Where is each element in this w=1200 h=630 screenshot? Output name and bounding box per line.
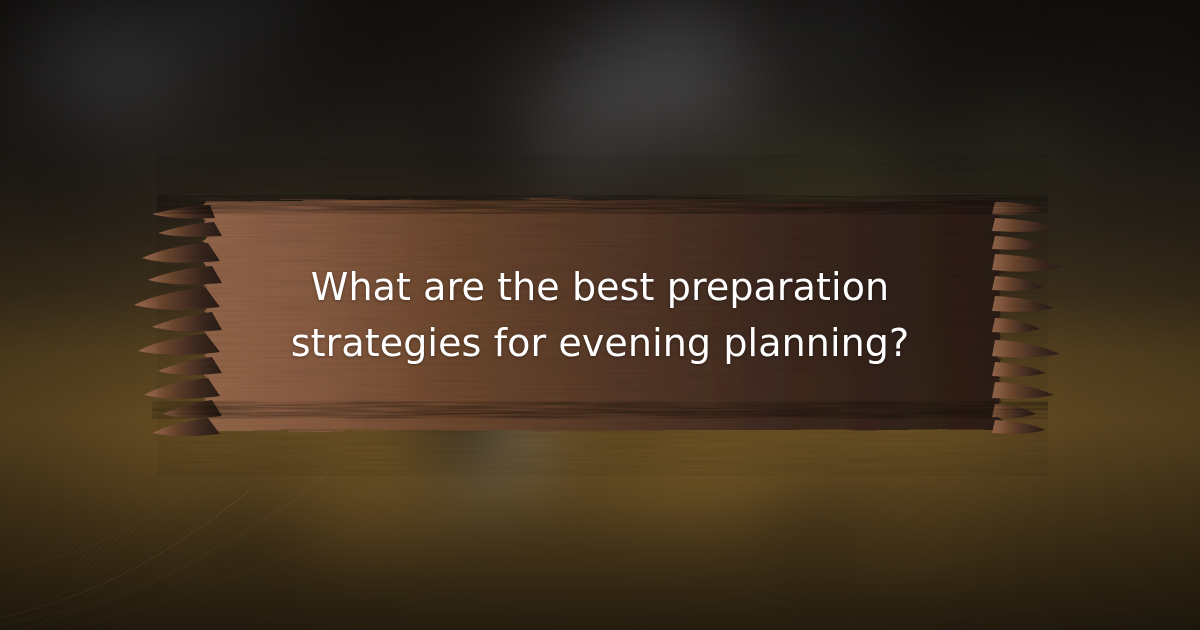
headline-container: What are the best preparation strategies… xyxy=(170,200,1030,430)
page-title: What are the best preparation strategies… xyxy=(215,259,985,371)
net-filament-strands xyxy=(0,450,420,630)
question-card: What are the best preparation strategies… xyxy=(0,0,1200,630)
